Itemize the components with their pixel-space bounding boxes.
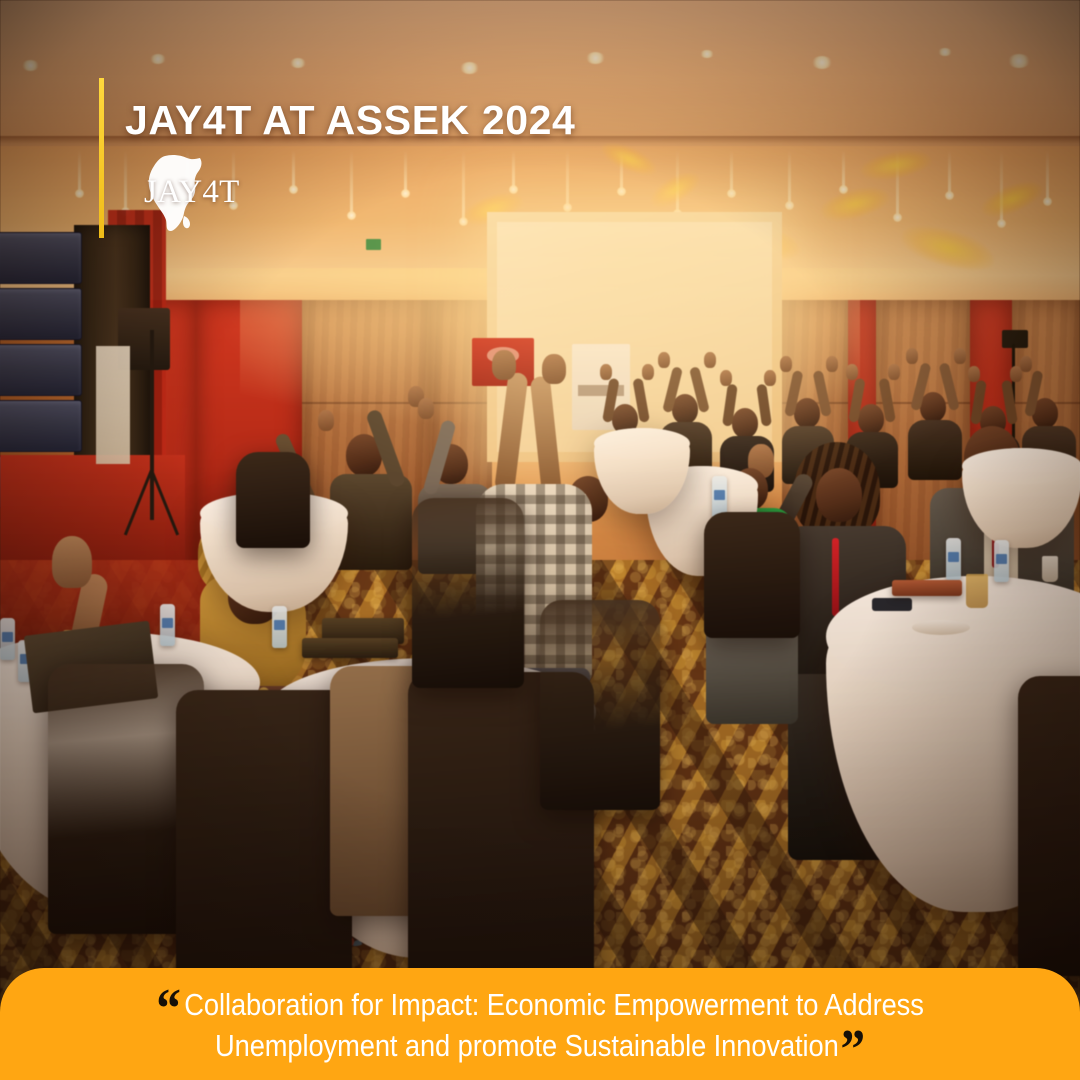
caption-bar: “Collaboration for Impact: Economic Empo… — [0, 968, 1080, 1080]
caption-text-2: Unemployment and promote Sustainable Inn… — [215, 1028, 839, 1063]
caption-inner: “Collaboration for Impact: Economic Empo… — [0, 984, 1080, 1066]
page-title: JAY4T AT ASSEK 2024 — [125, 97, 575, 144]
caption-line-2: Unemployment and promote Sustainable Inn… — [88, 1025, 993, 1066]
accent-bar — [99, 78, 104, 238]
logo-wordmark: JAY4T — [144, 174, 240, 211]
quote-close-icon: ” — [840, 1019, 865, 1080]
jay4t-logo: JAY4T — [132, 154, 258, 238]
caption-text-1: Collaboration for Impact: Economic Empow… — [184, 987, 923, 1022]
event-poster: JAY4T AT ASSEK 2024 JAY4T “Collaboration… — [0, 0, 1080, 1080]
